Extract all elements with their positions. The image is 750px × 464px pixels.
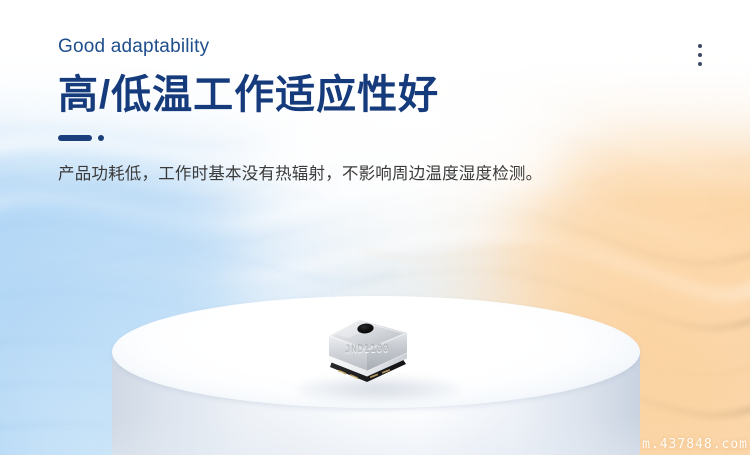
body-description: 产品功耗低，工作时基本没有热辐射，不影响周边温度湿度检测。 — [58, 161, 578, 188]
menu-dot-3 — [698, 62, 702, 66]
menu-dot-2 — [698, 53, 702, 57]
product-sensor-module: JND1100 — [318, 312, 416, 390]
eyebrow-text: Good adaptability — [58, 36, 618, 59]
page-title: 高/低温工作适应性好 — [58, 73, 618, 118]
divider-dot — [98, 135, 104, 141]
site-watermark: m.437848.com — [642, 437, 748, 452]
banner-copy-block: Good adaptability 高/低温工作适应性好 产品功耗低，工作时基本… — [58, 36, 618, 187]
more-vertical-icon[interactable] — [694, 40, 706, 70]
bottom-white-band — [0, 455, 750, 464]
title-divider — [58, 135, 618, 141]
menu-dot-1 — [698, 44, 702, 48]
divider-bar — [58, 135, 92, 141]
product-feature-banner: JND1100 Good adaptability 高/低温工作适应性好 产品功… — [0, 0, 750, 464]
